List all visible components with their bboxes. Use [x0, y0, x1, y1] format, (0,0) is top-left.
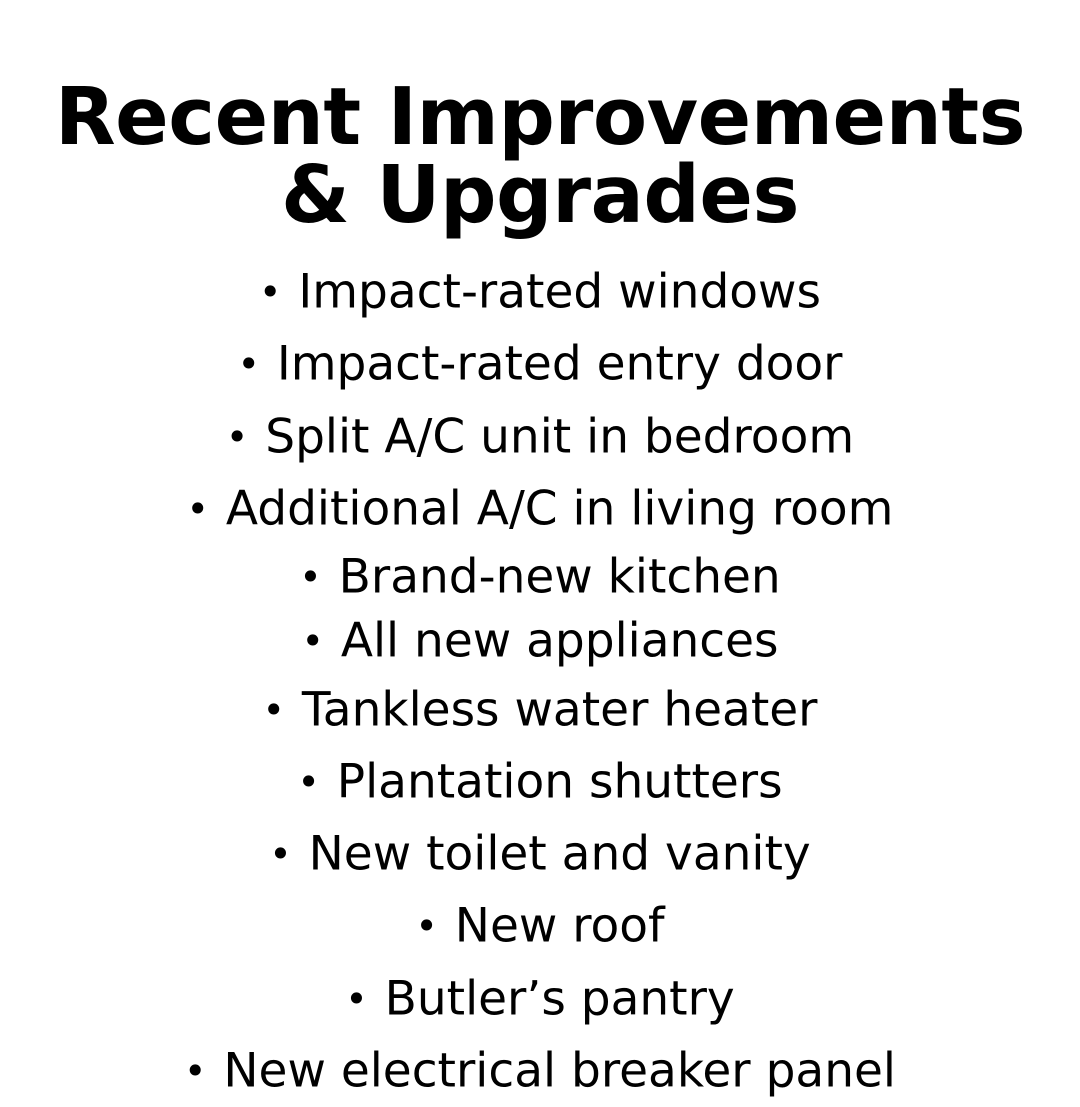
bullet-point-icon: • — [269, 832, 293, 876]
bullet-list: • Impact-rated windows • Impact-rated en… — [20, 256, 1060, 1107]
list-item: • New roof — [415, 890, 664, 962]
list-item-label: Plantation shutters — [337, 754, 783, 809]
list-item: • New electrical breaker panel — [184, 1035, 896, 1107]
bullet-point-icon: • — [237, 342, 261, 386]
title-line-1: Recent Improvements — [40, 78, 1040, 156]
list-item-label: Split A/C unit in bedroom — [265, 409, 854, 464]
list-item: • Brand-new kitchen — [299, 545, 780, 609]
bullet-point-icon: • — [299, 555, 323, 599]
bullet-point-icon: • — [262, 688, 286, 732]
list-item-label: Butler’s pantry — [385, 971, 735, 1026]
list-item: • Butler’s pantry — [345, 963, 735, 1035]
bullet-point-icon: • — [345, 977, 369, 1021]
list-item-label: New toilet and vanity — [309, 826, 811, 881]
list-item-label: Impact-rated windows — [298, 264, 821, 319]
list-item: • Impact-rated entry door — [237, 328, 842, 400]
list-item: • All new appliances — [301, 609, 778, 673]
slide: Recent Improvements & Upgrades • Impact-… — [0, 0, 1080, 1080]
list-item: • Plantation shutters — [297, 746, 782, 818]
page-title: Recent Improvements & Upgrades — [40, 0, 1040, 234]
title-line-2: & Upgrades — [40, 156, 1040, 234]
bullet-point-icon: • — [301, 619, 325, 663]
list-item-label: Impact-rated entry door — [277, 337, 843, 392]
list-item: • Split A/C unit in bedroom — [226, 401, 854, 473]
bullet-point-icon: • — [415, 904, 439, 948]
bullet-point-icon: • — [187, 487, 211, 531]
list-item-label: All new appliances — [341, 614, 779, 669]
bullet-point-icon: • — [226, 415, 250, 459]
bullet-point-icon: • — [297, 760, 321, 804]
bullet-point-icon: • — [184, 1049, 208, 1093]
bullet-point-icon: • — [259, 270, 283, 314]
list-item-label: New roof — [455, 899, 665, 954]
list-item-label: Brand-new kitchen — [339, 549, 781, 604]
list-item-label: Additional A/C in living room — [226, 481, 894, 536]
list-item-label: New electrical breaker panel — [223, 1043, 896, 1098]
list-item: • Impact-rated windows — [259, 256, 821, 328]
list-item: • Additional A/C in living room — [187, 473, 894, 545]
list-item: • New toilet and vanity — [269, 818, 810, 890]
list-item-label: Tankless water heater — [302, 682, 818, 737]
list-item: • Tankless water heater — [262, 674, 817, 746]
